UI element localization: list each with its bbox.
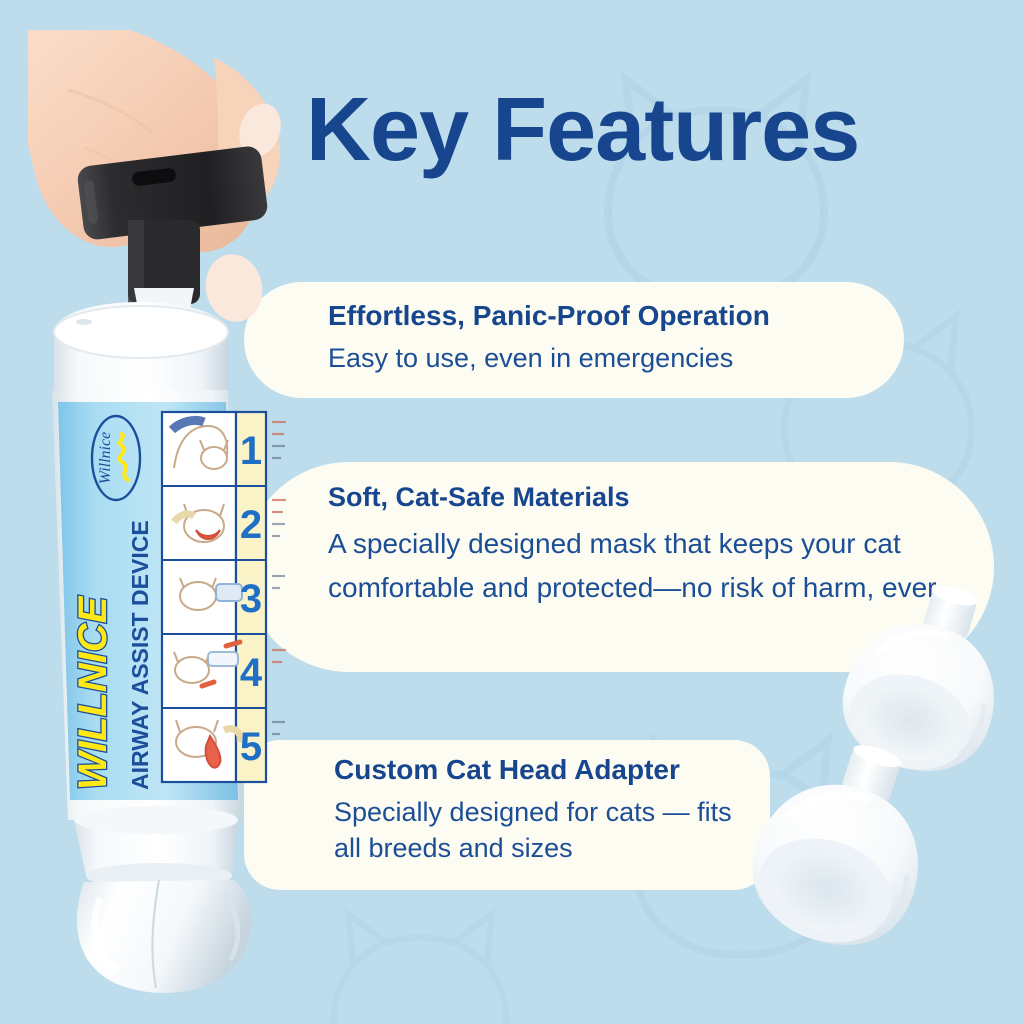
- cat-mask-adapter-photo: [716, 736, 966, 986]
- feature-1-body: Easy to use, even in emergencies: [328, 341, 733, 375]
- feature-3-heading: Custom Cat Head Adapter: [334, 754, 680, 786]
- page-title: Key Features: [306, 82, 1006, 178]
- brand-tagline: AIRWAY ASSIST DEVICE: [127, 520, 153, 790]
- instruction-step-number: 5: [240, 725, 262, 769]
- feature-2-heading: Soft, Cat-Safe Materials: [328, 482, 630, 513]
- svg-text:Willnice: Willnice: [97, 432, 114, 484]
- instruction-chart: 1 2 3 4 5: [162, 412, 286, 782]
- feature-1-heading: Effortless, Panic-Proof Operation: [328, 300, 770, 332]
- brand-name: WILLNICE: [71, 595, 115, 790]
- instruction-step-number: 2: [240, 503, 262, 547]
- instruction-step-number: 4: [240, 651, 263, 695]
- instruction-step-number: 1: [240, 429, 262, 473]
- key-features-graphic: Key Features Effortless, Panic-Proof Ope…: [0, 0, 1024, 1024]
- feature-3-body: Specially designed for cats — fits all b…: [334, 794, 754, 866]
- instruction-step-number: 3: [240, 577, 262, 621]
- airway-assist-device-photo: WILLNICE AIRWAY ASSIST DEVICE Willnice: [28, 30, 358, 1000]
